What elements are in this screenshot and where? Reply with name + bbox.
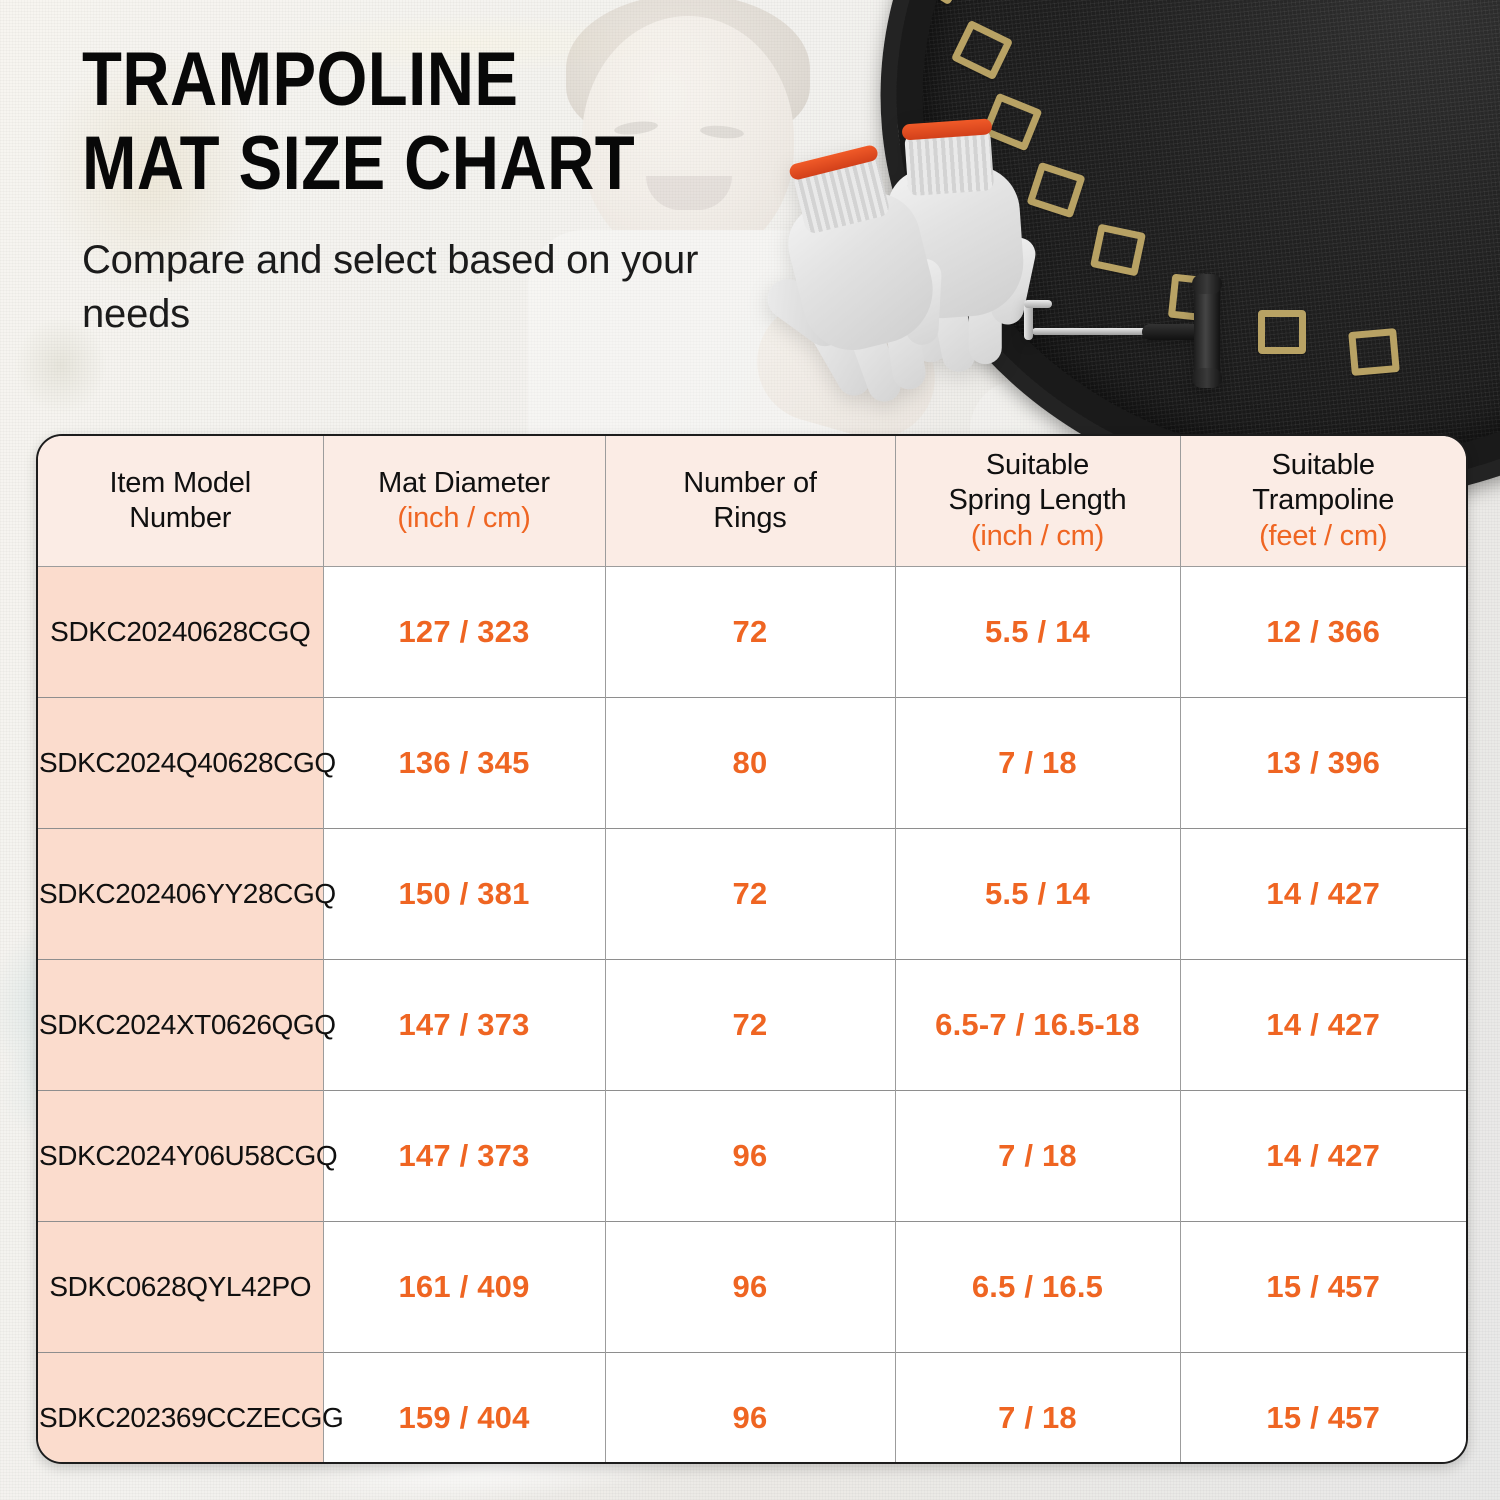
table-header: Item Model Number Mat Diameter (inch / c… <box>38 436 1466 567</box>
cell-rings: 80 <box>605 698 895 829</box>
cell-spring: 7 / 18 <box>895 1353 1180 1465</box>
table-body: SDKC20240628CGQ 127 / 323 72 5.5 / 14 12… <box>38 567 1466 1465</box>
cell-model: SDKC0628QYL42PO <box>38 1222 323 1353</box>
cell-trampoline: 12 / 366 <box>1180 567 1466 698</box>
header-line-1: Item Model <box>44 466 317 501</box>
cell-spring: 7 / 18 <box>895 698 1180 829</box>
table-row: SDKC2024Q40628CGQ 136 / 345 80 7 / 18 13… <box>38 698 1466 829</box>
cell-rings: 96 <box>605 1091 895 1222</box>
cell-rings: 72 <box>605 829 895 960</box>
cell-diameter: 159 / 404 <box>323 1353 605 1465</box>
cell-trampoline: 14 / 427 <box>1180 829 1466 960</box>
cell-rings: 96 <box>605 1353 895 1465</box>
tool-hook-tip <box>1024 300 1052 308</box>
mat-v-ring-hook <box>1258 310 1306 354</box>
cell-model: SDKC2024Y06U58CGQ <box>38 1091 323 1222</box>
cell-model: SDKC2024Q40628CGQ <box>38 698 323 829</box>
cell-diameter: 150 / 381 <box>323 829 605 960</box>
header-line-2: Number <box>44 501 317 536</box>
table-row: SDKC2024Y06U58CGQ 147 / 373 96 7 / 18 14… <box>38 1091 1466 1222</box>
header-unit: (inch / cm) <box>330 501 599 536</box>
table-header-row: Item Model Number Mat Diameter (inch / c… <box>38 436 1466 567</box>
cell-trampoline: 13 / 396 <box>1180 698 1466 829</box>
heading-block: TRAMPOLINE MAT SIZE CHART Compare and se… <box>82 44 802 341</box>
header-line-2: Spring Length <box>902 483 1174 518</box>
cell-trampoline: 14 / 427 <box>1180 960 1466 1091</box>
cell-spring: 5.5 / 14 <box>895 829 1180 960</box>
cell-rings: 72 <box>605 960 895 1091</box>
cell-spring: 7 / 18 <box>895 1091 1180 1222</box>
table-row: SDKC202369CCZECGG 159 / 404 96 7 / 18 15… <box>38 1353 1466 1465</box>
page-title-line1: TRAMPOLINE <box>82 44 701 116</box>
cell-diameter: 161 / 409 <box>323 1222 605 1353</box>
header-unit: (inch / cm) <box>902 519 1174 554</box>
header-line-2: Trampoline <box>1187 483 1461 518</box>
table-row: SDKC2024XT0626QGQ 147 / 373 72 6.5-7 / 1… <box>38 960 1466 1091</box>
cell-model: SDKC202406YY28CGQ <box>38 829 323 960</box>
header-line-2: Rings <box>612 501 889 536</box>
page-title-line2: MAT SIZE CHART <box>82 128 701 200</box>
cell-trampoline: 15 / 457 <box>1180 1222 1466 1353</box>
cell-spring: 5.5 / 14 <box>895 567 1180 698</box>
cell-trampoline: 15 / 457 <box>1180 1353 1466 1465</box>
cell-diameter: 147 / 373 <box>323 960 605 1091</box>
size-chart-table: Item Model Number Mat Diameter (inch / c… <box>38 436 1466 1464</box>
column-header-suitable-spring-length: Suitable Spring Length (inch / cm) <box>895 436 1180 567</box>
page-subtitle: Compare and select based on your needs <box>82 234 772 340</box>
size-chart-table-card: Item Model Number Mat Diameter (inch / c… <box>36 434 1468 1464</box>
cell-rings: 72 <box>605 567 895 698</box>
cell-model: SDKC20240628CGQ <box>38 567 323 698</box>
cell-model: SDKC202369CCZECGG <box>38 1353 323 1465</box>
cell-diameter: 136 / 345 <box>323 698 605 829</box>
cell-trampoline: 14 / 427 <box>1180 1091 1466 1222</box>
header-line-1: Suitable <box>1187 448 1461 483</box>
spring-pull-tool-image <box>1010 278 1220 388</box>
column-header-number-of-rings: Number of Rings <box>605 436 895 567</box>
column-header-item-model-number: Item Model Number <box>38 436 323 567</box>
table-row: SDKC0628QYL42PO 161 / 409 96 6.5 / 16.5 … <box>38 1222 1466 1353</box>
tool-shaft <box>1032 328 1152 335</box>
cell-rings: 96 <box>605 1222 895 1353</box>
size-chart-page: TRAMPOLINE MAT SIZE CHART Compare and se… <box>0 0 1500 1500</box>
table-row: SDKC202406YY28CGQ 150 / 381 72 5.5 / 14 … <box>38 829 1466 960</box>
column-header-mat-diameter: Mat Diameter (inch / cm) <box>323 436 605 567</box>
column-header-suitable-trampoline: Suitable Trampoline (feet / cm) <box>1180 436 1466 567</box>
table-row: SDKC20240628CGQ 127 / 323 72 5.5 / 14 12… <box>38 567 1466 698</box>
tool-t-handle <box>1194 278 1220 384</box>
header-unit: (feet / cm) <box>1187 519 1461 554</box>
cell-spring: 6.5-7 / 16.5-18 <box>895 960 1180 1091</box>
header-line-1: Mat Diameter <box>330 466 599 501</box>
cell-diameter: 127 / 323 <box>323 567 605 698</box>
cell-model: SDKC2024XT0626QGQ <box>38 960 323 1091</box>
header-line-1: Suitable <box>902 448 1174 483</box>
cell-diameter: 147 / 373 <box>323 1091 605 1222</box>
header-line-1: Number of <box>612 466 889 501</box>
mat-v-ring-hook <box>1348 328 1400 376</box>
cell-spring: 6.5 / 16.5 <box>895 1222 1180 1353</box>
